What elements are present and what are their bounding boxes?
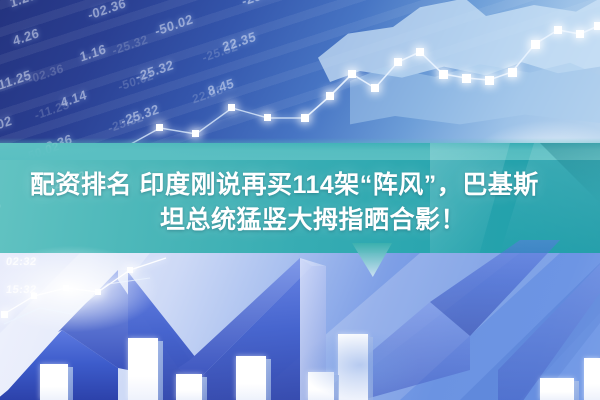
bar-column xyxy=(236,356,266,400)
ticker-value: 22.35 xyxy=(191,82,225,106)
bar-column xyxy=(540,378,574,400)
news-banner: -02.36+0.3521.05 -02.36-11.2545.02 +0.35… xyxy=(0,0,600,400)
bar-column xyxy=(584,358,600,400)
bar-column xyxy=(308,372,334,400)
headline-line-1: 配资排名 印度刚说再买114架“阵风”，巴基斯 xyxy=(14,168,539,203)
glowing-line-chart-left xyxy=(0,250,190,330)
ticker-value: -50.02 xyxy=(117,68,155,94)
headline-line-2: 坦总统猛竖大拇指晒合影！ xyxy=(160,203,586,238)
bar-column xyxy=(176,374,202,400)
ticker-value: -25.32 xyxy=(107,110,145,136)
bar-column xyxy=(128,338,158,400)
ticker-value: -11.25 xyxy=(33,97,71,123)
ticker-value: -25.32 xyxy=(201,39,239,65)
headline: 配资排名 印度刚说再买114架“阵风”，巴基斯 坦总统猛竖大拇指晒合影！ xyxy=(0,155,600,250)
bar-column xyxy=(338,334,368,400)
bar-column xyxy=(40,364,68,400)
